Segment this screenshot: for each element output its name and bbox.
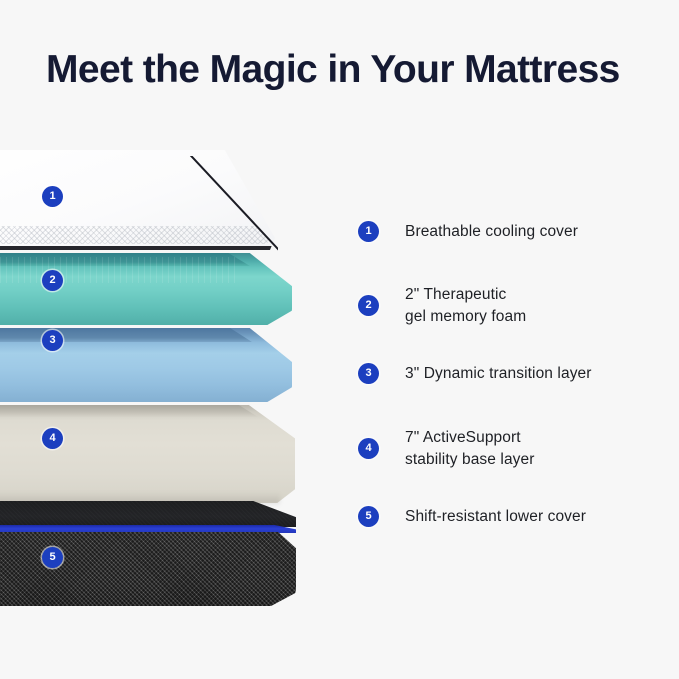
legend-item-5: 5 Shift-resistant lower cover (358, 506, 586, 528)
illustration-badge-3: 3 (42, 330, 63, 351)
layer-2-rib-texture (0, 257, 240, 283)
legend-badge-5: 5 (358, 506, 379, 527)
mattress-layer-1-corner-line (183, 156, 278, 252)
legend-badge-3: 3 (358, 363, 379, 384)
legend-label-1: Breathable cooling cover (405, 221, 578, 243)
legend-item-2: 2 2" Therapeutic gel memory foam (358, 284, 526, 328)
legend-badge-2: 2 (358, 295, 379, 316)
legend-item-1: 1 Breathable cooling cover (358, 221, 578, 243)
illustration-badge-1: 1 (42, 186, 63, 207)
layer-5-top-surface (0, 501, 296, 527)
legend-label-5: Shift-resistant lower cover (405, 506, 586, 528)
illustration-badge-2: 2 (42, 270, 63, 291)
infographic-page: Meet the Magic in Your Mattress 1 2 3 (0, 0, 679, 679)
legend-label-2: 2" Therapeutic gel memory foam (405, 284, 526, 328)
layer-3-top-surface (0, 328, 252, 342)
legend-item-3: 3 3" Dynamic transition layer (358, 363, 592, 385)
layer-4-top-surface (0, 405, 258, 417)
mattress-layer-2-gel-memory-foam (0, 253, 292, 325)
layer-5-blue-accent-stripe (0, 525, 296, 533)
layer-4-face (0, 405, 295, 503)
legend-badge-1: 1 (358, 221, 379, 242)
legend-badge-4: 4 (358, 438, 379, 459)
legend-label-3: 3" Dynamic transition layer (405, 363, 592, 385)
legend-item-4: 4 7" ActiveSupport stability base layer (358, 427, 535, 471)
page-title: Meet the Magic in Your Mattress (46, 48, 620, 92)
legend-label-4: 7" ActiveSupport stability base layer (405, 427, 535, 471)
illustration-badge-4: 4 (42, 428, 63, 449)
mattress-layer-4-stability-base (0, 405, 295, 503)
illustration-badge-5: 5 (42, 547, 63, 568)
layer-5-fabric-texture (0, 532, 296, 606)
